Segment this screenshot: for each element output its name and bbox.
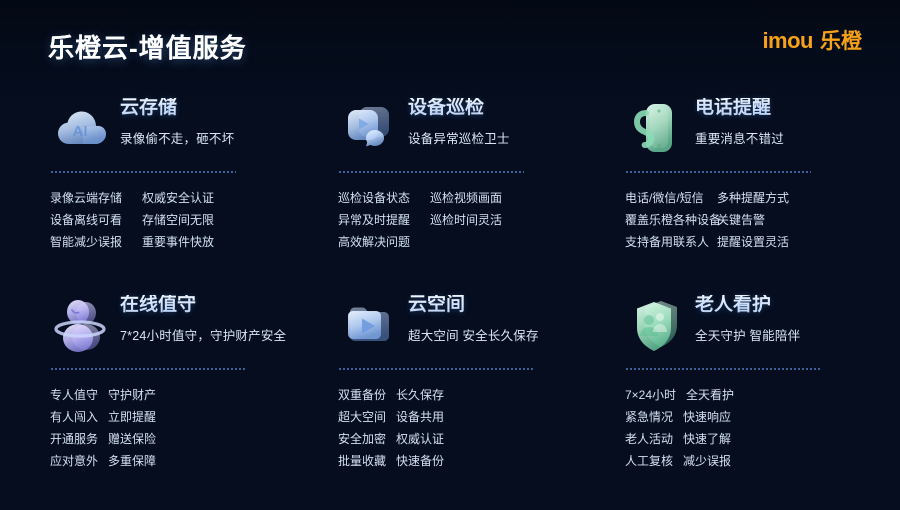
feature-item: 权威认证	[396, 428, 444, 450]
dotted-divider	[338, 368, 534, 370]
card-title-block: 云空间 超大空间 安全长久保存	[408, 289, 539, 344]
feature-item: 守护财产	[108, 384, 156, 406]
service-card[interactable]: AI 云存储 录像偷不走，砸不坏 录像云端存储权威安全认证设备离线可看存储空间无…	[0, 92, 300, 267]
service-card[interactable]: 云空间 超大空间 安全长久保存 双重备份长久保存超大空间设备共用安全加密权威认证…	[300, 289, 600, 464]
imou-logo: imou 乐橙	[762, 30, 862, 52]
feature-item: 重要事件快放	[142, 231, 214, 253]
feature-item: 应对意外	[50, 450, 98, 472]
card-subtitle: 全天守护 智能陪伴	[695, 325, 800, 344]
online-guard-icon	[50, 293, 114, 357]
svg-text:AI: AI	[73, 123, 88, 140]
card-subtitle: 超大空间 安全长久保存	[408, 325, 539, 344]
feature-item: 多重保障	[108, 450, 156, 472]
feature-row: 高效解决问题	[338, 231, 600, 253]
service-card-grid: AI 云存储 录像偷不走，砸不坏 录像云端存储权威安全认证设备离线可看存储空间无…	[0, 92, 900, 464]
feature-item: 设备离线可看	[50, 209, 142, 231]
feature-item: 批量收藏	[338, 450, 386, 472]
card-header: 在线值守 7*24小时值守，守护财产安全	[50, 289, 300, 357]
feature-item: 支持备用联系人	[625, 231, 717, 253]
feature-row: 异常及时提醒巡检时间灵活	[338, 209, 600, 231]
feature-item: 老人活动	[625, 428, 673, 450]
feature-item: 双重备份	[338, 384, 386, 406]
feature-row: 专人值守守护财产	[50, 384, 300, 406]
card-title: 在线值守	[120, 295, 286, 316]
feature-item: 多种提醒方式	[717, 187, 789, 209]
feature-row: 有人闯入立即提醒	[50, 406, 300, 428]
dotted-divider	[338, 171, 524, 173]
feature-item: 电话/微信/短信	[625, 187, 717, 209]
logo-wordmark: imou	[762, 30, 813, 52]
feature-row: 设备离线可看存储空间无限	[50, 209, 300, 231]
feature-item: 智能减少误报	[50, 231, 142, 253]
dotted-divider	[625, 171, 811, 173]
ai-cloud-icon: AI	[50, 96, 114, 160]
card-header: 设备巡检 设备异常巡检卫士	[338, 92, 600, 160]
device-inspection-icon	[338, 96, 402, 160]
feature-item: 提醒设置灵活	[717, 231, 789, 253]
feature-item: 长久保存	[396, 384, 444, 406]
feature-item: 开通服务	[50, 428, 98, 450]
card-header: 云空间 超大空间 安全长久保存	[338, 289, 600, 357]
feature-list: 录像云端存储权威安全认证设备离线可看存储空间无限智能减少误报重要事件快放	[50, 187, 300, 253]
feature-item: 设备共用	[396, 406, 444, 428]
feature-item: 立即提醒	[108, 406, 156, 428]
feature-item: 快速了解	[683, 428, 731, 450]
card-header: AI 云存储 录像偷不走，砸不坏	[50, 92, 300, 160]
card-title-block: 设备巡检 设备异常巡检卫士	[408, 92, 510, 147]
card-title: 电话提醒	[695, 98, 784, 119]
feature-item: 紧急情况	[625, 406, 673, 428]
page-title: 乐橙云-增值服务	[48, 28, 247, 65]
feature-item: 7×24小时	[625, 384, 676, 406]
feature-row: 人工复核减少误报	[625, 450, 900, 472]
feature-item: 全天看护	[686, 384, 734, 406]
feature-row: 7×24小时全天看护	[625, 384, 900, 406]
feature-row: 紧急情况快速响应	[625, 406, 900, 428]
card-title: 云存储	[120, 98, 234, 119]
feature-row: 电话/微信/短信多种提醒方式	[625, 187, 900, 209]
slide-header: 乐橙云-增值服务 imou 乐橙	[0, 0, 900, 92]
logo-chinese-name: 乐橙	[820, 31, 862, 52]
service-card[interactable]: 老人看护 全天守护 智能陪伴 7×24小时全天看护紧急情况快速响应老人活动快速了…	[600, 289, 900, 464]
dotted-divider	[625, 368, 821, 370]
dotted-divider	[50, 368, 246, 370]
feature-item: 安全加密	[338, 428, 386, 450]
service-card[interactable]: 电话提醒 重要消息不错过 电话/微信/短信多种提醒方式覆盖乐橙各种设备关键告警支…	[600, 92, 900, 267]
feature-row: 批量收藏快速备份	[338, 450, 600, 472]
cloud-space-icon	[338, 293, 402, 357]
service-card[interactable]: 在线值守 7*24小时值守，守护财产安全 专人值守守护财产有人闯入立即提醒开通服…	[0, 289, 300, 464]
feature-item: 专人值守	[50, 384, 98, 406]
feature-item: 覆盖乐橙各种设备	[625, 209, 717, 231]
feature-item: 巡检时间灵活	[430, 209, 502, 231]
card-subtitle: 7*24小时值守，守护财产安全	[120, 325, 286, 344]
feature-list: 双重备份长久保存超大空间设备共用安全加密权威认证批量收藏快速备份	[338, 384, 600, 472]
card-subtitle: 重要消息不错过	[695, 128, 784, 147]
feature-row: 双重备份长久保存	[338, 384, 600, 406]
feature-item: 赠送保险	[108, 428, 156, 450]
feature-list: 巡检设备状态巡检视频画面异常及时提醒巡检时间灵活高效解决问题	[338, 187, 600, 253]
feature-item: 快速备份	[396, 450, 444, 472]
feature-item: 存储空间无限	[142, 209, 214, 231]
feature-row: 支持备用联系人提醒设置灵活	[625, 231, 900, 253]
card-title-block: 在线值守 7*24小时值守，守护财产安全	[120, 289, 286, 344]
card-title-block: 老人看护 全天守护 智能陪伴	[695, 289, 800, 344]
card-header: 电话提醒 重要消息不错过	[625, 92, 900, 160]
feature-item: 异常及时提醒	[338, 209, 430, 231]
feature-item: 有人闯入	[50, 406, 98, 428]
feature-item: 巡检视频画面	[430, 187, 502, 209]
feature-item: 关键告警	[717, 209, 765, 231]
card-title: 云空间	[408, 295, 539, 316]
feature-row: 智能减少误报重要事件快放	[50, 231, 300, 253]
feature-item: 超大空间	[338, 406, 386, 428]
feature-item: 录像云端存储	[50, 187, 142, 209]
feature-row: 开通服务赠送保险	[50, 428, 300, 450]
feature-list: 专人值守守护财产有人闯入立即提醒开通服务赠送保险应对意外多重保障	[50, 384, 300, 472]
feature-list: 7×24小时全天看护紧急情况快速响应老人活动快速了解人工复核减少误报	[625, 384, 900, 472]
card-title-block: 云存储 录像偷不走，砸不坏	[120, 92, 234, 147]
phone-alert-icon	[625, 96, 689, 160]
card-subtitle: 设备异常巡检卫士	[408, 128, 510, 147]
feature-row: 安全加密权威认证	[338, 428, 600, 450]
card-header: 老人看护 全天守护 智能陪伴	[625, 289, 900, 357]
slide-canvas: 乐橙云-增值服务 imou 乐橙	[0, 0, 900, 510]
card-title: 老人看护	[695, 295, 800, 316]
feature-item: 快速响应	[683, 406, 731, 428]
dotted-divider	[50, 171, 236, 173]
feature-row: 超大空间设备共用	[338, 406, 600, 428]
feature-row: 录像云端存储权威安全认证	[50, 187, 300, 209]
feature-row: 巡检设备状态巡检视频画面	[338, 187, 600, 209]
feature-item: 高效解决问题	[338, 231, 430, 253]
feature-item: 减少误报	[683, 450, 731, 472]
card-title: 设备巡检	[408, 98, 510, 119]
feature-row: 应对意外多重保障	[50, 450, 300, 472]
feature-item: 巡检设备状态	[338, 187, 430, 209]
service-card[interactable]: 设备巡检 设备异常巡检卫士 巡检设备状态巡检视频画面异常及时提醒巡检时间灵活高效…	[300, 92, 600, 267]
feature-item: 人工复核	[625, 450, 673, 472]
feature-list: 电话/微信/短信多种提醒方式覆盖乐橙各种设备关键告警支持备用联系人提醒设置灵活	[625, 187, 900, 253]
card-title-block: 电话提醒 重要消息不错过	[695, 92, 784, 147]
card-subtitle: 录像偷不走，砸不坏	[120, 128, 234, 147]
feature-item: 权威安全认证	[142, 187, 214, 209]
feature-row: 覆盖乐橙各种设备关键告警	[625, 209, 900, 231]
feature-row: 老人活动快速了解	[625, 428, 900, 450]
elderly-care-shield-icon	[625, 293, 689, 357]
